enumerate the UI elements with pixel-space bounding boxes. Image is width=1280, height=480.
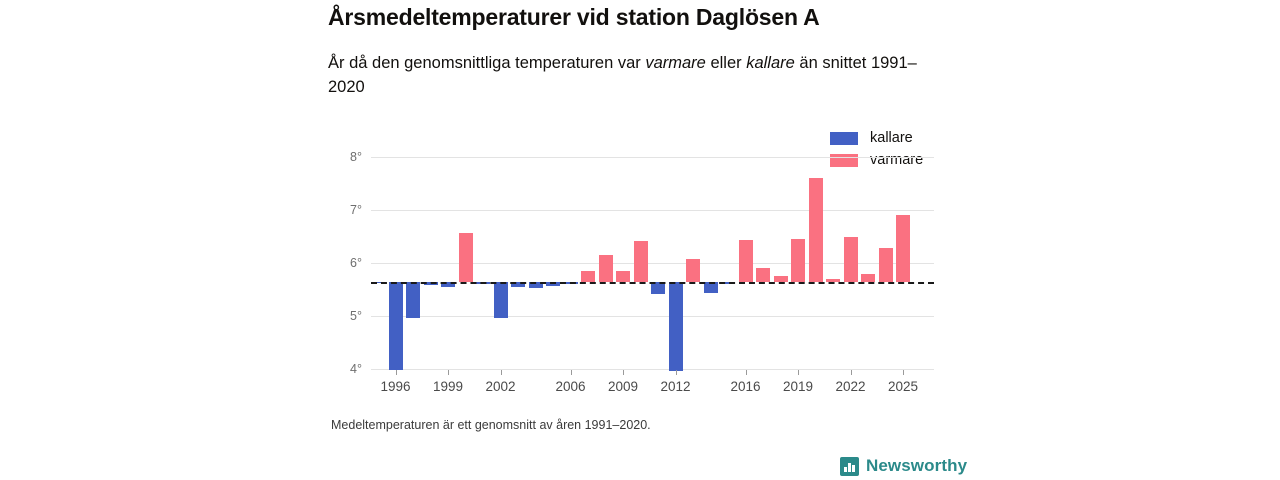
x-axis-tick	[396, 370, 397, 375]
x-axis-tick	[571, 370, 572, 375]
x-axis-tick-label: 2022	[835, 379, 865, 394]
bar-2013[interactable]	[686, 259, 700, 282]
legend-swatch-icon	[830, 132, 858, 145]
bar-2019[interactable]	[791, 239, 805, 282]
legend-label: kallare	[870, 130, 913, 146]
bar-2025[interactable]	[896, 215, 910, 282]
bar-2023[interactable]	[861, 274, 875, 282]
x-axis-tick	[676, 370, 677, 375]
y-axis-tick-label: 8°	[350, 150, 362, 164]
bar-chart-logo-icon	[840, 457, 859, 476]
bar-2010[interactable]	[634, 241, 648, 282]
plot-region: 4°5°6°7°8°199619992002200620092012201620…	[371, 150, 934, 378]
x-axis-tick	[448, 370, 449, 375]
bar-2002[interactable]	[494, 282, 508, 318]
bar-2009[interactable]	[616, 271, 630, 282]
bar-2020[interactable]	[809, 178, 823, 282]
legend-item-kallare[interactable]: kallare	[830, 128, 923, 148]
bar-2016[interactable]	[739, 240, 753, 282]
x-axis-tick-label: 2002	[485, 379, 515, 394]
x-axis-tick	[851, 370, 852, 375]
bar-2017[interactable]	[756, 268, 770, 282]
y-axis-tick-label: 7°	[350, 203, 362, 217]
chart-page: Årsmedeltemperaturer vid station Daglöse…	[0, 0, 1280, 480]
y-axis-tick-label: 6°	[350, 256, 362, 270]
chart-canvas: kallarevarmare 4°5°6°7°8°199619992002200…	[0, 0, 1280, 480]
bar-1997[interactable]	[406, 282, 420, 318]
x-axis-tick-label: 2009	[608, 379, 638, 394]
bar-2024[interactable]	[879, 248, 893, 282]
bar-2000[interactable]	[459, 233, 473, 282]
brand-logo: Newsworthy	[840, 456, 967, 476]
x-axis-tick-label: 2016	[730, 379, 760, 394]
x-axis-tick-label: 2019	[783, 379, 813, 394]
x-axis-tick	[623, 370, 624, 375]
gridline-8: 8°	[371, 157, 934, 158]
x-axis-tick-label: 2012	[660, 379, 690, 394]
x-axis-tick	[903, 370, 904, 375]
x-axis-tick-label: 1996	[380, 379, 410, 394]
y-axis-tick-label: 5°	[350, 309, 362, 323]
reference-baseline	[371, 282, 934, 284]
bar-1996[interactable]	[389, 282, 403, 369]
x-axis-tick	[501, 370, 502, 375]
y-axis-tick-label: 4°	[350, 362, 362, 376]
x-axis-tick	[798, 370, 799, 375]
x-axis-tick-label: 2006	[555, 379, 585, 394]
brand-name: Newsworthy	[866, 456, 967, 476]
bar-2012[interactable]	[669, 282, 683, 371]
x-axis-tick-label: 2025	[888, 379, 918, 394]
bar-2008[interactable]	[599, 255, 613, 282]
gridline-5: 5°	[371, 316, 934, 317]
gridline-7: 7°	[371, 210, 934, 211]
bar-2007[interactable]	[581, 271, 595, 282]
bar-2022[interactable]	[844, 237, 858, 282]
x-axis-tick	[746, 370, 747, 375]
chart-footnote: Medeltemperaturen är ett genomsnitt av å…	[331, 418, 651, 432]
x-axis-tick-label: 1999	[433, 379, 463, 394]
